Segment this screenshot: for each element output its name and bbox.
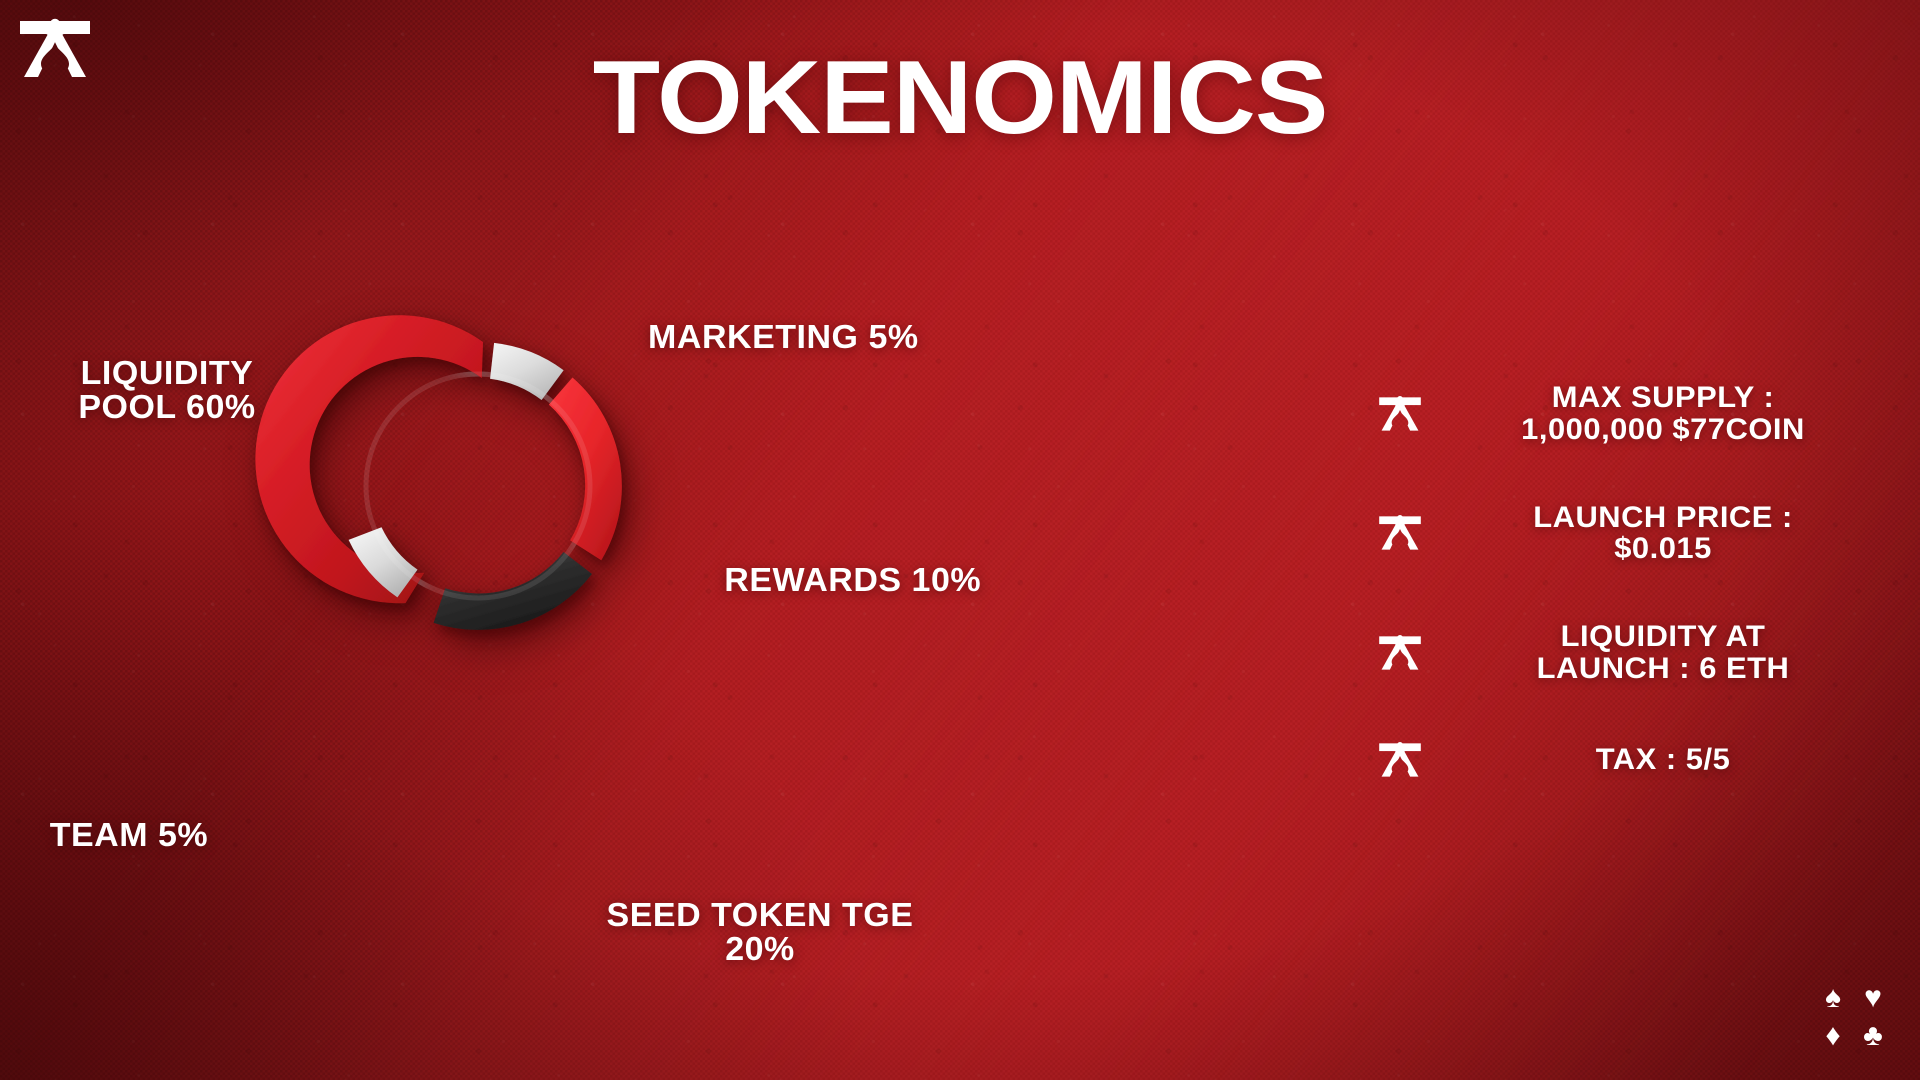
stat-row-launch-price: LAUNCH PRICE : $0.015 bbox=[1378, 502, 1878, 566]
chart-label-team: TEAM 5% bbox=[50, 818, 208, 852]
diamond-icon: ♦ bbox=[1814, 1018, 1852, 1054]
club-icon: ♣ bbox=[1854, 1018, 1892, 1054]
chart-label-liquidity-pool: LIQUIDITY POOL 60% bbox=[34, 356, 300, 425]
page-title: TOKENOMICS bbox=[0, 46, 1920, 150]
seventy-seven-logo-bullet-icon bbox=[1378, 634, 1422, 672]
card-suit-cluster: ♠ ♥ ♦ ♣ bbox=[1814, 980, 1892, 1054]
stat-text-launch-price: LAUNCH PRICE : $0.015 bbox=[1442, 502, 1885, 566]
tokenomics-donut-chart bbox=[238, 246, 718, 726]
chart-label-seed-token-tge: SEED TOKEN TGE 20% bbox=[554, 898, 966, 967]
stats-panel: MAX SUPPLY : 1,000,000 $77COIN LAUNCH P bbox=[1378, 382, 1878, 779]
seventy-seven-logo-bullet-icon bbox=[1378, 395, 1422, 433]
stat-text-max-supply: MAX SUPPLY : 1,000,000 $77COIN bbox=[1442, 382, 1885, 446]
donut-slice-rewards bbox=[549, 378, 622, 561]
stat-row-tax: TAX : 5/5 bbox=[1378, 741, 1878, 779]
heart-icon: ♥ bbox=[1854, 980, 1892, 1016]
stat-text-tax: TAX : 5/5 bbox=[1442, 744, 1885, 776]
seventy-seven-logo-bullet-icon bbox=[1378, 514, 1422, 552]
seventy-seven-logo-bullet-icon bbox=[1378, 741, 1422, 779]
chart-label-marketing: MARKETING 5% bbox=[648, 320, 919, 354]
stat-row-liquidity-at-launch: LIQUIDITY AT LAUNCH : 6 ETH bbox=[1378, 621, 1878, 685]
chart-label-rewards: REWARDS 10% bbox=[724, 563, 981, 597]
stat-text-liquidity-at-launch: LIQUIDITY AT LAUNCH : 6 ETH bbox=[1442, 621, 1885, 685]
donut-slice-marketing bbox=[490, 343, 564, 400]
stat-row-max-supply: MAX SUPPLY : 1,000,000 $77COIN bbox=[1378, 382, 1878, 446]
spade-icon: ♠ bbox=[1814, 980, 1852, 1016]
